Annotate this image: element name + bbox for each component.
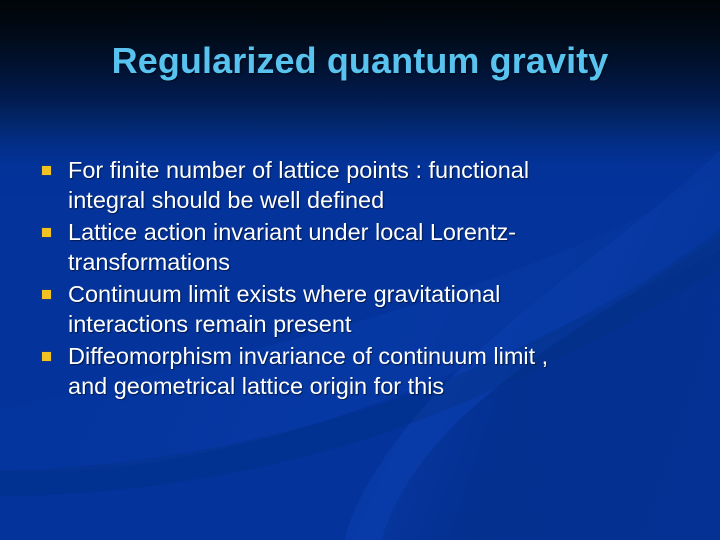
square-bullet-icon [42, 290, 51, 299]
slide-title: Regularized quantum gravity [0, 40, 720, 82]
list-item: Lattice action invariant under local Lor… [42, 217, 680, 277]
bullet-text: Lattice action invariant under local Lor… [68, 217, 680, 277]
square-bullet-icon [42, 166, 51, 175]
list-item: Diffeomorphism invariance of continuum l… [42, 341, 680, 401]
bullet-text: Continuum limit exists where gravitation… [68, 279, 680, 339]
bullet-list: For finite number of lattice points : fu… [42, 155, 680, 403]
bullet-text: Diffeomorphism invariance of continuum l… [68, 341, 680, 401]
list-item: Continuum limit exists where gravitation… [42, 279, 680, 339]
bullet-text: For finite number of lattice points : fu… [68, 155, 680, 215]
presentation-slide: Regularized quantum gravity For finite n… [0, 0, 720, 540]
square-bullet-icon [42, 228, 51, 237]
list-item: For finite number of lattice points : fu… [42, 155, 680, 215]
square-bullet-icon [42, 352, 51, 361]
